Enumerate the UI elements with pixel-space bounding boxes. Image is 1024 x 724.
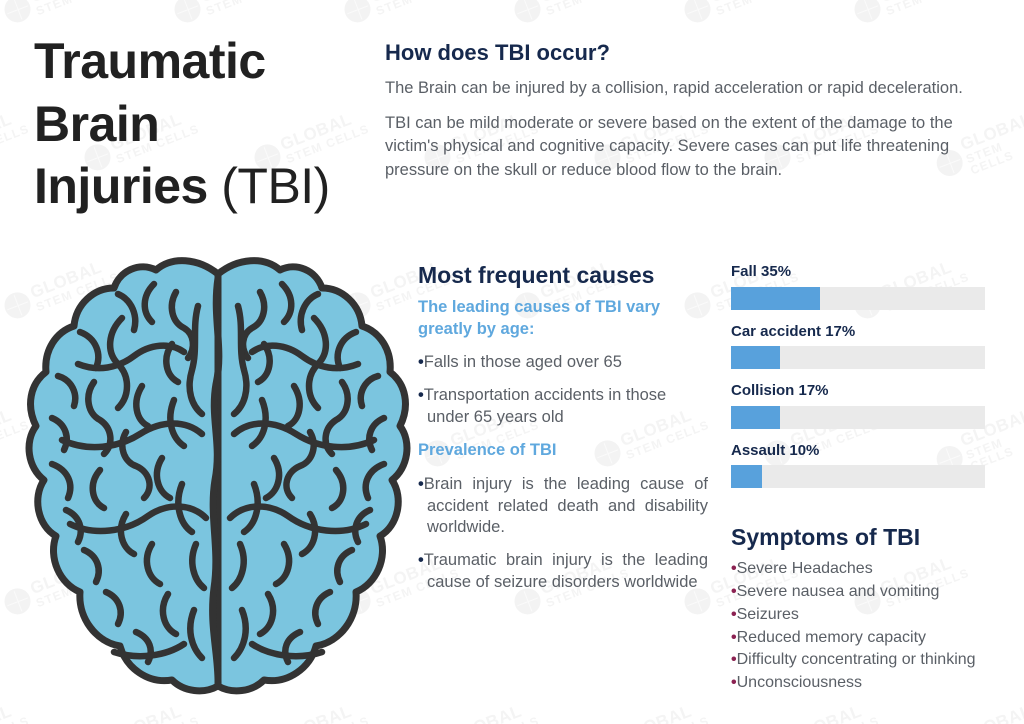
title-line-1: Traumatic [34, 30, 384, 93]
brain-illustration [22, 248, 414, 700]
list-item: Severe nausea and vomiting [731, 581, 1021, 604]
intro-section: How does TBI occur? The Brain can be inj… [385, 40, 985, 193]
intro-heading: How does TBI occur? [385, 40, 985, 66]
bar-track [731, 465, 985, 488]
intro-paragraph-2: TBI can be mild moderate or severe based… [385, 112, 985, 182]
bar-label: Fall 35% [731, 264, 985, 281]
bar-fill [731, 287, 820, 310]
list-item: Unconsciousness [731, 672, 1021, 695]
bar-row: Collision 17% [731, 383, 985, 429]
list-item: Reduced memory capacity [731, 627, 1021, 650]
symptoms-section: Symptoms of TBI Severe Headaches Severe … [731, 524, 1021, 695]
title-injuries: Injuries [34, 158, 208, 214]
causes-subheading: The leading causes of TBI vary greatly b… [418, 297, 708, 339]
list-item: Difficulty concentrating or thinking [731, 649, 1021, 672]
symptoms-list: Severe Headaches Severe nausea and vomit… [731, 558, 1021, 694]
causes-bar-chart: Fall 35% Car accident 17% Collision 17% … [731, 264, 985, 502]
bar-row: Car accident 17% [731, 324, 985, 370]
list-item: Traumatic brain injury is the leading ca… [418, 550, 708, 594]
symptoms-heading: Symptoms of TBI [731, 524, 1021, 550]
bar-label: Assault 10% [731, 443, 985, 460]
page-title: Traumatic Brain Injuries (TBI) [34, 30, 384, 218]
list-item: Severe Headaches [731, 558, 1021, 581]
bar-label: Car accident 17% [731, 324, 985, 341]
title-tbi-abbrev: (TBI) [221, 158, 330, 214]
list-item: Transportation accidents in those under … [418, 385, 708, 429]
list-item: Falls in those aged over 65 [418, 352, 708, 374]
bar-track [731, 406, 985, 429]
list-item: Brain injury is the leading cause of acc… [418, 474, 708, 540]
prevalence-subheading: Prevalence of TBI [418, 440, 708, 461]
bar-label: Collision 17% [731, 383, 985, 400]
brain-svg [22, 248, 414, 700]
title-line-3: Injuries (TBI) [34, 155, 384, 218]
bar-fill [731, 346, 780, 369]
causes-heading: Most frequent causes [418, 262, 708, 288]
title-line-2: Brain [34, 93, 384, 156]
bar-row: Fall 35% [731, 264, 985, 310]
bar-fill [731, 465, 762, 488]
bar-track [731, 346, 985, 369]
causes-list: Falls in those aged over 65 Transportati… [418, 352, 708, 429]
bar-row: Assault 10% [731, 443, 985, 489]
causes-section: Most frequent causes The leading causes … [418, 262, 708, 606]
intro-paragraph-1: The Brain can be injured by a collision,… [385, 77, 985, 100]
bar-fill [731, 406, 780, 429]
prevalence-list: Brain injury is the leading cause of acc… [418, 474, 708, 595]
bar-track [731, 287, 985, 310]
list-item: Seizures [731, 604, 1021, 627]
infographic-page: GLOBALSTEM CELLSGLOBALSTEM CELLSGLOBALST… [0, 0, 1024, 724]
